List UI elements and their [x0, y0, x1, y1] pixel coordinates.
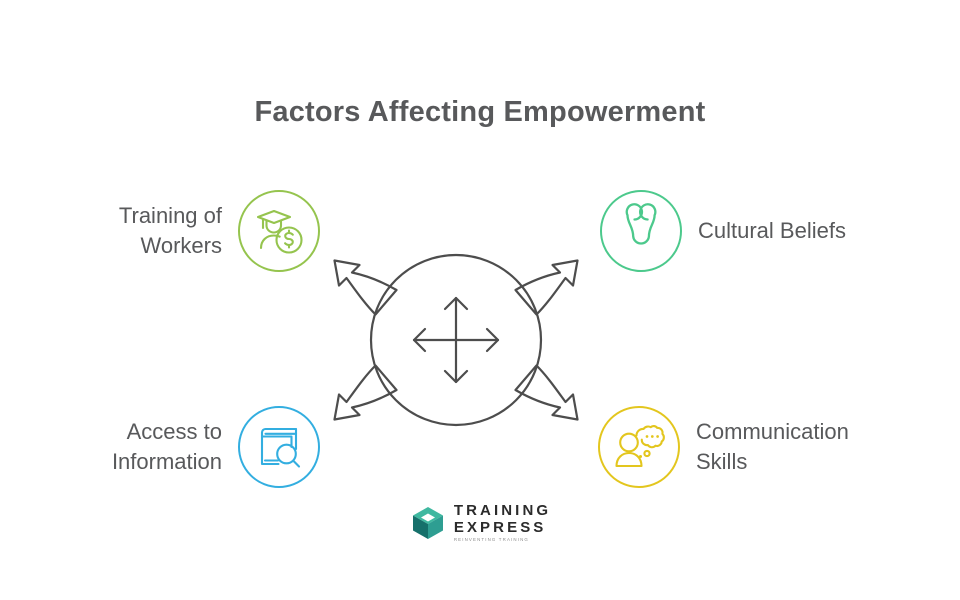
logo-line-2: EXPRESS — [454, 520, 551, 535]
person-thought-bubble-icon — [610, 418, 668, 476]
center-expansion-graphic — [318, 238, 594, 442]
factor-label-access-to-information: Access to Information — [112, 417, 238, 477]
factor-cultural-beliefs: Cultural Beliefs — [600, 190, 920, 272]
icon-circle-communication-skills — [598, 406, 680, 488]
icon-circle-cultural-beliefs — [600, 190, 682, 272]
icon-circle-access-to-information — [238, 406, 320, 488]
icon-circle-training-of-workers — [238, 190, 320, 272]
brand-logo: TRAINING EXPRESS REINVENTING TRAINING — [0, 503, 960, 542]
page-title: Factors Affecting Empowerment — [0, 96, 960, 129]
factor-label-communication-skills: Communication Skills — [680, 417, 849, 477]
four-way-expansion-arrows-icon — [318, 238, 594, 442]
graduate-worker-dollar-icon — [250, 202, 308, 260]
factor-training-of-workers: Training of Workers — [60, 190, 320, 272]
logo-tagline: REINVENTING TRAINING — [454, 538, 551, 542]
book-magnifier-icon — [251, 419, 307, 475]
infographic-canvas: Factors Affecting Empowerment Training o… — [0, 0, 960, 600]
logo-wordmark: TRAINING EXPRESS REINVENTING TRAINING — [454, 503, 551, 542]
abstract-face-mask-icon — [613, 203, 669, 259]
factor-label-cultural-beliefs: Cultural Beliefs — [682, 216, 846, 246]
logo-line-1: TRAINING — [454, 503, 551, 518]
factor-communication-skills: Communication Skills — [598, 406, 928, 488]
factor-access-to-information: Access to Information — [50, 406, 320, 488]
factor-label-training-of-workers: Training of Workers — [119, 201, 238, 261]
training-express-cube-icon — [409, 504, 447, 542]
